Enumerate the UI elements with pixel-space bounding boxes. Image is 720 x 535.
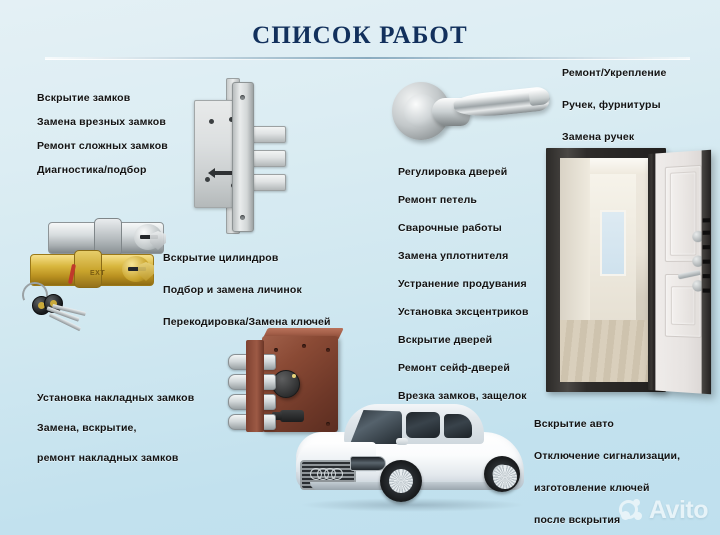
door-edge-bolts	[702, 150, 711, 395]
service-item: Замена уплотнителя	[398, 250, 529, 262]
service-item: Замена, вскрытие,	[37, 422, 194, 434]
service-item: Вскрытие авто	[534, 418, 680, 430]
car-side-mirror	[396, 438, 408, 445]
service-item: Вскрытие замков	[37, 92, 168, 104]
mortise-lock-services: Вскрытие замков Замена врезных замков Ре…	[37, 92, 168, 188]
room-behind-door	[560, 158, 652, 382]
service-item: Ремонт сейф-дверей	[398, 362, 529, 374]
service-item: ремонт накладных замков	[37, 452, 194, 464]
open-steel-door-photo	[546, 148, 708, 392]
keys-photo	[18, 286, 88, 334]
door-leaf	[648, 150, 711, 395]
service-item: Замена ручек	[562, 131, 666, 143]
service-item: Ремонт петель	[398, 194, 529, 206]
service-item: Диагностика/подбор	[37, 164, 168, 176]
service-item: Подбор и замена личинок	[163, 284, 331, 296]
rim-lock-services: Установка накладных замков Замена, вскры…	[37, 392, 194, 482]
service-item: Регулировка дверей	[398, 166, 529, 178]
mortise-lock-photo	[186, 82, 284, 230]
rim-lock-strikeplate	[246, 340, 264, 432]
service-item: Замена врезных замков	[37, 116, 168, 128]
service-item: Врезка замков, защелок	[398, 390, 529, 402]
service-item: Установка эксцентриков	[398, 306, 529, 318]
service-item: Устранение продувания	[398, 278, 529, 290]
door-services: Регулировка дверей Ремонт петель Сварочн…	[398, 166, 529, 418]
lock-cylinders-photo: EXT	[14, 214, 166, 328]
services-poster: СПИСОК РАБОТ	[0, 0, 720, 535]
title-divider	[45, 57, 690, 60]
service-item: Перекодировка/Замена ключей	[163, 316, 331, 328]
service-item: Отключение сигнализации,	[534, 450, 680, 462]
service-item: Ручек, фурнитуры	[562, 99, 666, 111]
avito-watermark: Avito	[619, 495, 708, 525]
mortise-faceplate	[232, 82, 254, 232]
door-handle-photo	[392, 74, 552, 152]
service-item: Ремонт сложных замков	[37, 140, 168, 152]
car-headlight	[350, 456, 386, 471]
handle-services: Ремонт/Укрепление Ручек, фурнитуры Замен…	[562, 67, 666, 163]
service-item: Ремонт/Укрепление	[562, 67, 666, 79]
cylinder-services: Вскрытие цилиндров Подбор и замена личин…	[163, 252, 331, 348]
service-item: Вскрытие цилиндров	[163, 252, 331, 264]
service-item: изготовление ключей	[534, 482, 680, 494]
service-item: Сварочные работы	[398, 222, 529, 234]
car-front-wheel	[380, 460, 422, 502]
avito-wordmark: Avito	[649, 498, 708, 523]
rim-lock-keyhole-cover	[272, 370, 300, 398]
page-title: СПИСОК РАБОТ	[0, 22, 720, 50]
service-item: Установка накладных замков	[37, 392, 194, 404]
car-logo-icon	[310, 468, 340, 478]
service-item: Вскрытие дверей	[398, 334, 529, 346]
avito-logo-icon	[619, 497, 645, 523]
car-rear-wheel	[484, 456, 520, 492]
